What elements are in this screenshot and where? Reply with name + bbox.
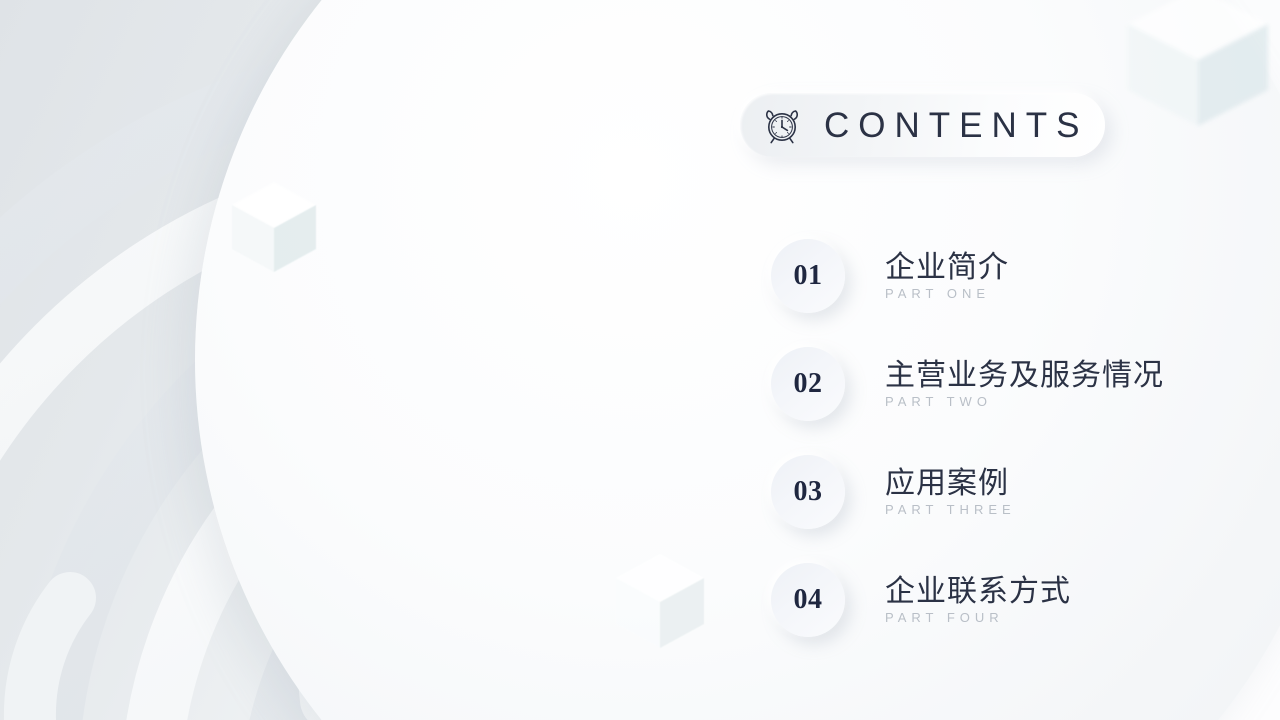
toc-subtitle: PART ONE — [885, 287, 1009, 300]
toc-title: 企业联系方式 — [885, 576, 1071, 608]
toc-text-group: 企业联系方式 PART FOUR — [885, 576, 1071, 624]
content-column: CONTENTS 01 企业简介 PART ONE 02 主营业务及服务情况 P… — [735, 0, 1280, 720]
toc-title: 应用案例 — [885, 468, 1016, 500]
cube-small-left-icon — [228, 176, 320, 276]
toc-item-03[interactable]: 03 应用案例 PART THREE — [735, 438, 1280, 546]
contents-header-pill: CONTENTS — [740, 93, 1105, 157]
toc-number-circle: 04 — [771, 563, 845, 637]
toc-item-04[interactable]: 04 企业联系方式 PART FOUR — [735, 546, 1280, 654]
slide-root: CONTENTS 01 企业简介 PART ONE 02 主营业务及服务情况 P… — [0, 0, 1280, 720]
toc-text-group: 应用案例 PART THREE — [885, 468, 1016, 516]
toc-item-01[interactable]: 01 企业简介 PART ONE — [735, 222, 1280, 330]
toc-number-circle: 02 — [771, 347, 845, 421]
toc-number: 01 — [794, 260, 823, 292]
toc-subtitle: PART TWO — [885, 395, 1164, 408]
toc-text-group: 企业简介 PART ONE — [885, 252, 1009, 300]
toc-subtitle: PART THREE — [885, 503, 1016, 516]
toc-number-circle: 01 — [771, 239, 845, 313]
toc-number-circle: 03 — [771, 455, 845, 529]
alarm-clock-icon — [760, 103, 804, 147]
toc-title: 主营业务及服务情况 — [885, 360, 1164, 392]
toc-subtitle: PART FOUR — [885, 611, 1071, 624]
toc-title: 企业简介 — [885, 252, 1009, 284]
toc-number: 02 — [794, 368, 823, 400]
toc-list: 01 企业简介 PART ONE 02 主营业务及服务情况 PART TWO — [735, 222, 1280, 654]
toc-text-group: 主营业务及服务情况 PART TWO — [885, 360, 1164, 408]
toc-number: 03 — [794, 476, 823, 508]
toc-number: 04 — [794, 584, 823, 616]
contents-title: CONTENTS — [824, 108, 1089, 143]
cube-white-bottom-icon — [612, 548, 708, 652]
toc-item-02[interactable]: 02 主营业务及服务情况 PART TWO — [735, 330, 1280, 438]
